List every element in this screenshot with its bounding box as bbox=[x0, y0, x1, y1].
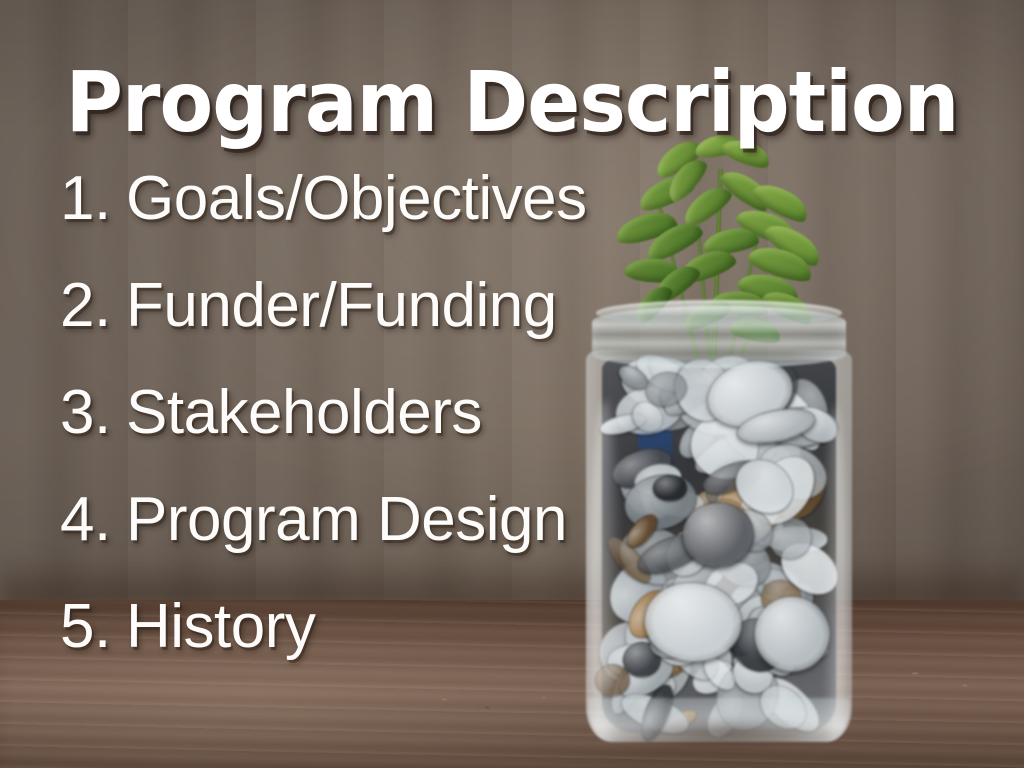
presentation-slide: Program Description 1.Goals/Objectives2.… bbox=[0, 0, 1024, 768]
list-item-label: Program Design bbox=[126, 489, 567, 551]
list-item-number: 5. bbox=[60, 596, 126, 658]
coin-foreground bbox=[754, 596, 830, 672]
slide-bullet-list: 1.Goals/Objectives2.Funder/Funding3.Stak… bbox=[60, 168, 760, 703]
list-item-label: Funder/Funding bbox=[126, 275, 557, 337]
table-debris-right bbox=[900, 664, 1020, 694]
list-item-number: 3. bbox=[60, 382, 126, 444]
list-item-number: 1. bbox=[60, 168, 126, 230]
list-item-number: 4. bbox=[60, 489, 126, 551]
list-item: 3.Stakeholders bbox=[60, 382, 760, 489]
list-item: 2.Funder/Funding bbox=[60, 275, 760, 382]
list-item-label: Stakeholders bbox=[126, 382, 482, 444]
jar-cast-shadow bbox=[560, 712, 890, 754]
list-item: 4.Program Design bbox=[60, 489, 760, 596]
slide-title: Program Description bbox=[36, 60, 988, 144]
list-item: 5.History bbox=[60, 596, 760, 703]
list-item: 1.Goals/Objectives bbox=[60, 168, 760, 275]
list-item-label: Goals/Objectives bbox=[126, 168, 587, 230]
list-item-number: 2. bbox=[60, 275, 126, 337]
list-item-label: History bbox=[126, 596, 315, 658]
